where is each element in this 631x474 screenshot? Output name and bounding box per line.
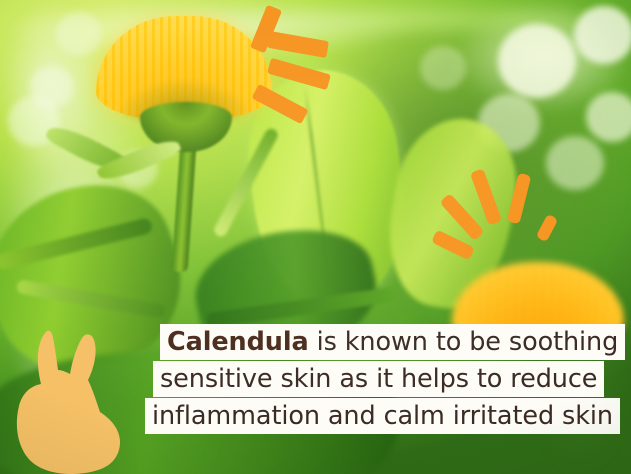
bokeh-disc — [546, 136, 604, 190]
bokeh-disc — [420, 46, 466, 90]
caption-line-3: inflammation and calm irritated skin — [145, 398, 620, 434]
caption-line-1-text: is known to be soothing — [309, 327, 619, 357]
calendula-flower-main — [96, 16, 272, 166]
bokeh-disc — [574, 6, 631, 64]
bokeh-disc — [498, 24, 576, 98]
caption-block: Calendula is known to be soothing sensit… — [0, 324, 631, 434]
caption-line-1: Calendula is known to be soothing — [160, 324, 625, 360]
banner-image: Calendula is known to be soothing sensit… — [0, 0, 631, 474]
caption-brand-word: Calendula — [167, 327, 309, 357]
caption-line-2: sensitive skin as it helps to reduce — [153, 361, 604, 397]
bokeh-disc — [586, 92, 631, 142]
